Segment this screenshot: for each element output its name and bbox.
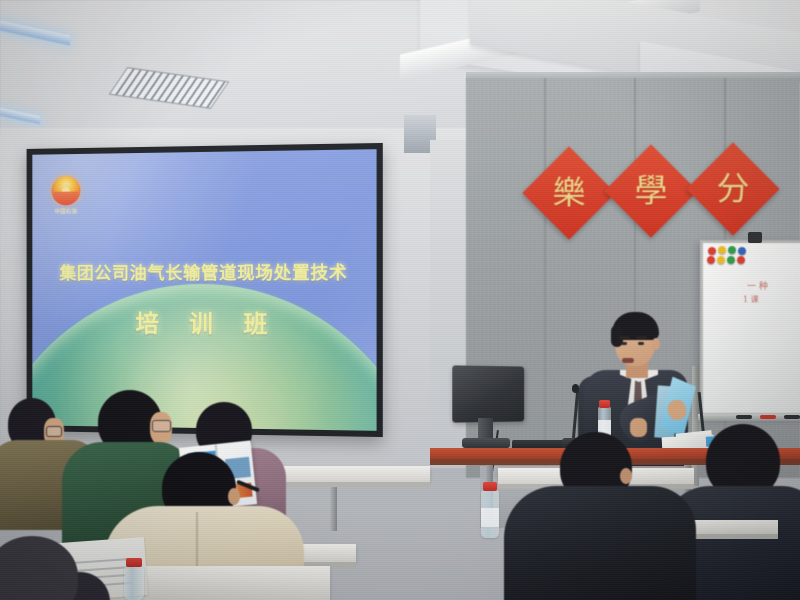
projection-screen-frame: 中国石油 集团公司油气长输管道现场处置技术 培 训 班 (27, 143, 383, 437)
ceiling-air-vent (109, 67, 230, 109)
placard-le: 樂 (522, 146, 615, 239)
monitor-base (462, 438, 510, 448)
whiteboard-magnet[interactable] (717, 256, 725, 264)
whiteboard-magnet[interactable] (728, 246, 736, 254)
projection-screen: 中国石油 集团公司油气长输管道现场处置技术 培 训 班 (32, 149, 376, 431)
whiteboard-clip[interactable] (748, 232, 762, 243)
whiteboard-marker[interactable] (784, 415, 800, 419)
water-bottle-cap[interactable] (599, 400, 610, 408)
presenter-hand (630, 418, 647, 437)
attendee-eyeglasses (152, 420, 171, 432)
recessed-ceiling-light (0, 108, 40, 125)
placard-character: 樂 (536, 160, 602, 226)
desk-leg (330, 487, 337, 531)
whiteboard-ink-line-1: 一 种 (747, 279, 768, 292)
whiteboard-magnet[interactable] (708, 247, 716, 255)
water-bottle-cap[interactable] (126, 558, 142, 567)
attendee-eyeglasses (46, 426, 62, 437)
presenter-eye (621, 342, 627, 345)
stone-wall-seam (544, 78, 546, 478)
presenter-eyebrow (619, 336, 630, 339)
presenter-mouth (622, 358, 634, 363)
whiteboard-magnet[interactable] (718, 246, 726, 254)
whiteboard-marker[interactable] (736, 415, 752, 419)
whiteboard-magnet[interactable] (707, 256, 715, 264)
gooseneck-microphone-head (572, 384, 579, 393)
presenter-eye (638, 342, 644, 345)
placard-xue: 學 (604, 144, 697, 237)
whiteboard: 一 种 1 课 (700, 240, 800, 416)
whiteboard-marker[interactable] (760, 415, 776, 419)
monitor-stand-neck (478, 418, 493, 440)
attendee-ear (228, 488, 240, 505)
presenter-ear (652, 338, 660, 350)
screen-sheen (32, 149, 376, 431)
lcd-monitor (452, 365, 524, 422)
whiteboard-ink-line-2: 1 课 (743, 294, 759, 305)
recessed-ceiling-light (0, 21, 70, 46)
water-bottle-label (481, 508, 499, 527)
attendee-ear (620, 468, 632, 484)
conference-room-photo: 樂 學 分 一 种 1 课 中国石油 (0, 0, 800, 600)
placard-character: 學 (618, 158, 684, 224)
placard-fen: 分 (686, 142, 779, 235)
whiteboard-magnet[interactable] (738, 247, 746, 255)
whiteboard-magnet[interactable] (737, 256, 745, 264)
whiteboard-magnet[interactable] (727, 256, 735, 264)
water-bottle[interactable] (124, 566, 144, 600)
water-bottle-cap[interactable] (483, 482, 497, 491)
presenter-eyebrow (636, 336, 647, 339)
placard-character: 分 (700, 156, 766, 222)
attendee-dark-suit-body (504, 486, 696, 600)
